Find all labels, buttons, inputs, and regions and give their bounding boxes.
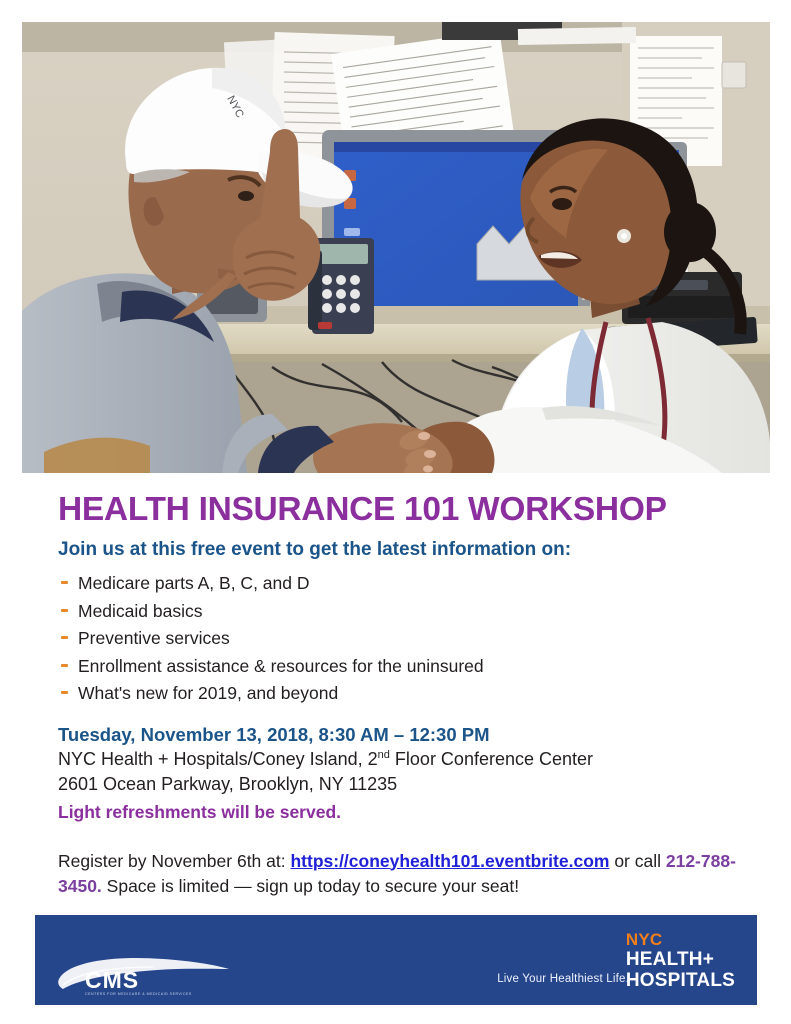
cms-logo-graphic: CMS CENTERS FOR MEDICARE & MEDICAID SERV… [53,955,233,997]
bullet-icon [61,581,68,584]
venue-text-pre: NYC Health + Hospitals/Coney Island, 2 [58,749,378,769]
register-text-pre: Register by November 6th at: [58,851,290,871]
footer-bar: CMS CENTERS FOR MEDICARE & MEDICAID SERV… [35,915,757,1005]
event-address: 2601 Ocean Parkway, Brooklyn, NY 11235 [58,772,758,797]
event-venue: NYC Health + Hospitals/Coney Island, 2nd… [58,747,758,772]
list-item: Enrollment assistance & resources for th… [58,653,758,681]
register-text-post: Space is limited — sign up today to secu… [102,876,519,896]
flyer-content: HEALTH INSURANCE 101 WORKSHOP Join us at… [58,490,758,899]
register-text-mid: or call [609,851,665,871]
registration-link[interactable]: https://coneyhealth101.eventbrite.com [290,851,609,871]
photo-illustration: NYC [22,22,770,473]
bullet-icon [61,691,68,694]
list-item: Medicare parts A, B, C, and D [58,570,758,598]
svg-text:CENTERS FOR MEDICARE & MEDICAI: CENTERS FOR MEDICARE & MEDICAID SERVICES [85,992,192,996]
flyer-page: NYC [0,0,791,1024]
list-item-label: Enrollment assistance & resources for th… [78,656,484,676]
list-item-label: Medicaid basics [78,601,203,621]
list-item: Medicaid basics [58,598,758,626]
list-item-label: Medicare parts A, B, C, and D [78,573,310,593]
footer-tagline: Live Your Healthiest Life. [497,973,629,985]
nyc-health-hospitals-logo: NYC HEALTH+ HOSPITALS [626,931,735,990]
list-item-label: What's new for 2019, and beyond [78,683,338,703]
topics-list: Medicare parts A, B, C, and D Medicaid b… [58,570,758,708]
list-item-label: Preventive services [78,628,230,648]
nyc-logo-line-3: HOSPITALS [626,971,735,990]
subtitle: Join us at this free event to get the la… [58,538,758,562]
registration-note: Register by November 6th at: https://con… [58,849,758,899]
event-date-time: Tuesday, November 13, 2018, 8:30 AM – 12… [58,722,758,747]
bullet-icon [61,664,68,667]
bullet-icon [61,609,68,612]
venue-text-post: Floor Conference Center [390,749,593,769]
list-item: What's new for 2019, and beyond [58,680,758,708]
refreshments-note: Light refreshments will be served. [58,799,758,826]
svg-text:CMS: CMS [85,967,139,993]
venue-ordinal-suffix: nd [378,749,390,761]
list-item: Preventive services [58,625,758,653]
cms-logo: CMS CENTERS FOR MEDICARE & MEDICAID SERV… [53,955,233,997]
nyc-logo-line-1: NYC [626,931,735,948]
event-details: Tuesday, November 13, 2018, 8:30 AM – 12… [58,722,758,826]
nyc-logo-line-2: HEALTH+ [626,950,735,969]
page-title: HEALTH INSURANCE 101 WORKSHOP [58,490,758,530]
clinic-consultation-photo: NYC [22,22,770,473]
bullet-icon [61,636,68,639]
